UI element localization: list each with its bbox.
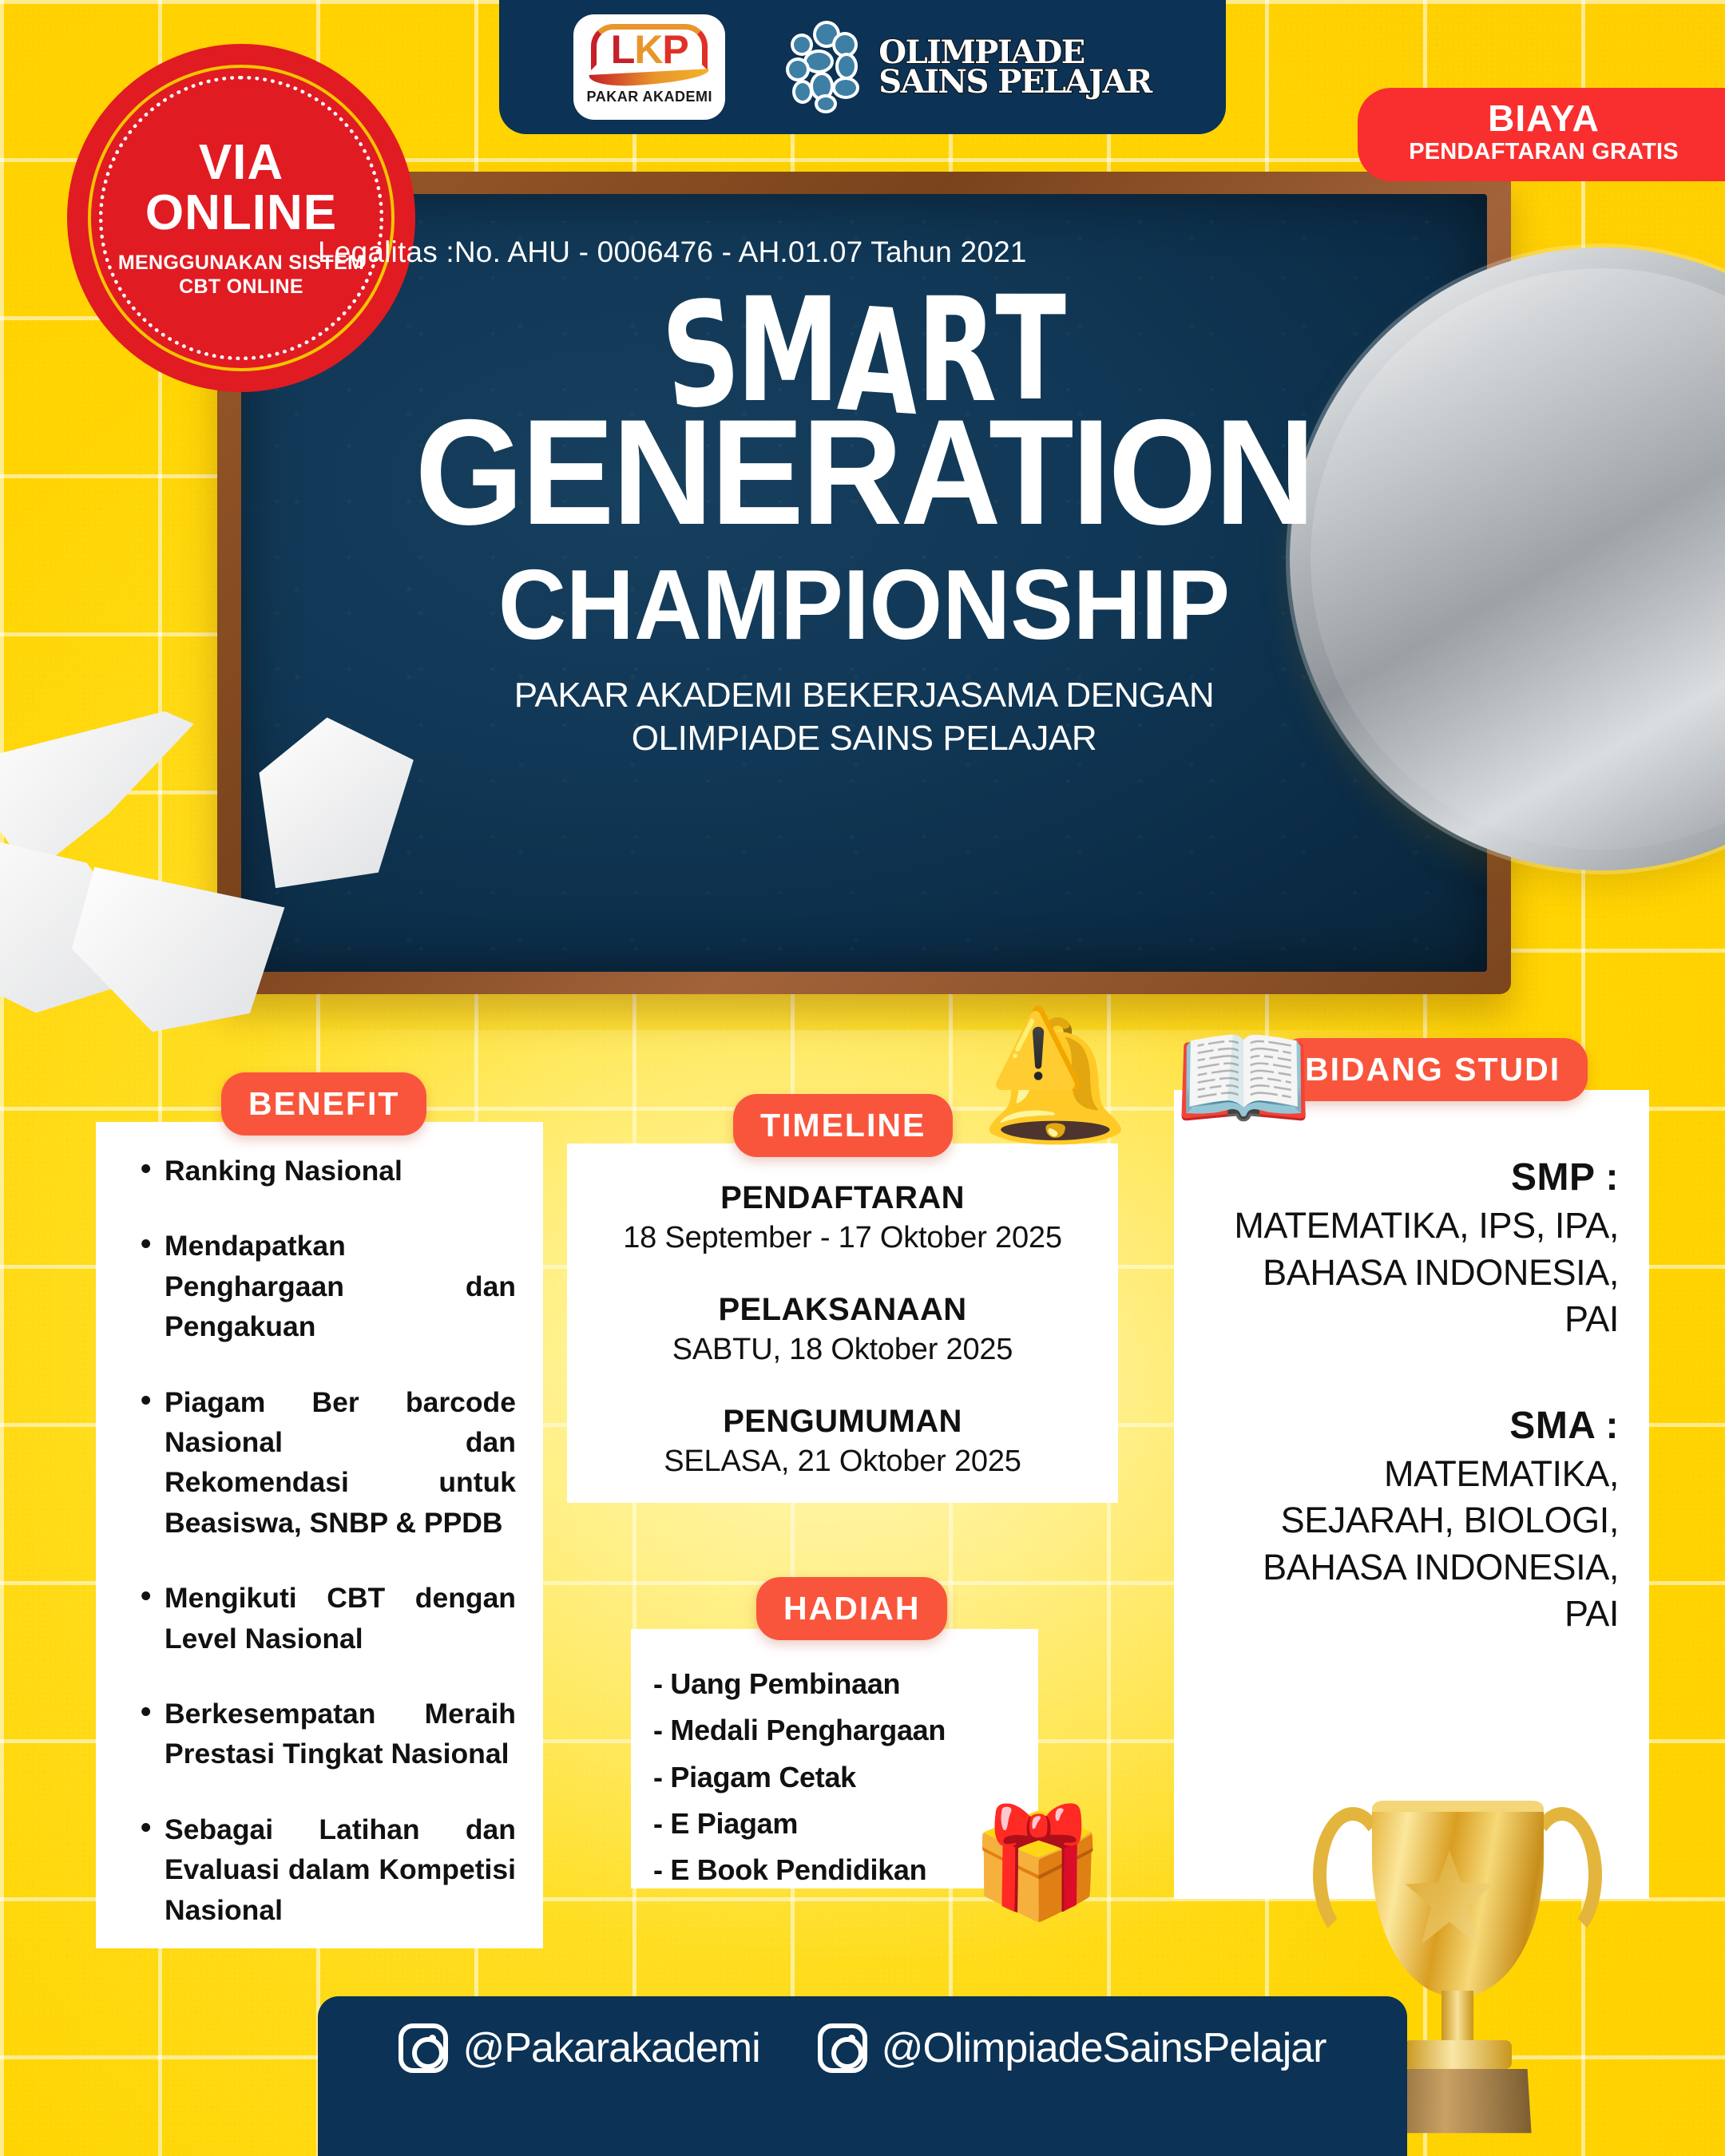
via-badge-line-2: ONLINE <box>109 188 373 238</box>
instagram-handle: @OlimpiadeSainsPelajar <box>882 2024 1326 2072</box>
list-item: Mendapatkan Penghargaan dan Pengakuan <box>141 1226 516 1346</box>
biaya-subtitle: PENDAFTARAN GRATIS <box>1394 139 1693 165</box>
bidang-subjects-smp: MATEMATIKA, IPS, IPA, BAHASA INDONESIA, … <box>1209 1203 1619 1343</box>
collaboration-text: PAKAR AKADEMI BEKERJASAMA DENGAN OLIMPIA… <box>297 674 1431 759</box>
trophy-cup <box>1372 1801 1544 1996</box>
biaya-title: BIAYA <box>1394 99 1693 137</box>
timeline-date: SABTU, 18 Oktober 2025 <box>567 1333 1118 1367</box>
blackboard-surface: Legalitas :No. AHU - 0006476 - AH.01.07 … <box>241 194 1487 972</box>
list-item: Mengikuti CBT dengan Level Nasional <box>141 1578 516 1659</box>
lkp-subtitle: PAKAR AKADEMI <box>587 89 713 105</box>
timeline-date: SELASA, 21 Oktober 2025 <box>567 1445 1118 1479</box>
title-championship: CHAMPIONSHIP <box>326 558 1403 653</box>
instagram-item-olimpiadesainspelajar[interactable]: @OlimpiadeSainsPelajar <box>818 2023 1326 2073</box>
osp-wordmark: OLIMPIADE SAINS PELAJAR <box>878 38 1151 97</box>
lkp-arc-shape <box>591 24 708 70</box>
benefit-list: Ranking Nasional Mendapatkan Penghargaan… <box>96 1122 543 1930</box>
timeline-card: PENDAFTARAN 18 September - 17 Oktober 20… <box>567 1143 1118 1503</box>
instagram-handle: @Pakarakademi <box>462 2024 759 2072</box>
list-item: Piagam Ber barcode Nasional dan Rekomend… <box>141 1382 516 1544</box>
title-generation: GENERATION <box>337 408 1392 537</box>
legalitas-text: Legalitas :No. AHU - 0006476 - AH.01.07 … <box>297 236 1431 269</box>
list-item: - Piagam Cetak <box>653 1754 1038 1801</box>
list-item: Ranking Nasional <box>141 1151 516 1191</box>
list-item: - Medali Penghargaan <box>653 1707 1038 1754</box>
list-item: - Uang Pembinaan <box>653 1661 1038 1707</box>
lkp-swoosh-icon <box>589 69 710 88</box>
top-logo-bar: L K P PAKAR AKADEMI OLIMPIADE <box>499 0 1226 134</box>
globe-book-graduation-icon: 📖 <box>1174 1022 1313 1134</box>
bidang-studi-chip: BIDANG STUDI <box>1278 1038 1588 1101</box>
timeline-heading: PENDAFTARAN <box>567 1180 1118 1216</box>
footer-bar: @Pakarakademi @OlimpiadeSainsPelajar <box>318 1996 1407 2156</box>
hadiah-chip: HADIAH <box>756 1577 947 1640</box>
trophy-foot <box>1404 2040 1512 2069</box>
list-item: Berkesempatan Meraih Prestasi Tingkat Na… <box>141 1694 516 1774</box>
instagram-icon <box>399 2023 448 2073</box>
instagram-item-pakarakademi[interactable]: @Pakarakademi <box>399 2023 759 2073</box>
olimpiade-sains-pelajar-logo: OLIMPIADE SAINS PELAJAR <box>789 24 1151 110</box>
gift-box-icon: 🎁 <box>970 1809 1104 1916</box>
via-badge-line-3: MENGGUNAKAN SISTEM <box>109 251 373 275</box>
bidang-subjects-sma: MATEMATIKA, SEJARAH, BIOLOGI, BAHASA IND… <box>1209 1451 1619 1638</box>
molecule-icon <box>789 24 866 110</box>
blackboard-wooden-frame: Legalitas :No. AHU - 0006476 - AH.01.07 … <box>217 172 1511 994</box>
collab-line-2: OLIMPIADE SAINS PELAJAR <box>297 717 1431 760</box>
timeline-heading: PENGUMUMAN <box>567 1404 1118 1440</box>
timeline-heading: PELAKSANAAN <box>567 1292 1118 1328</box>
via-badge-line-1: VIA <box>109 137 373 188</box>
bidang-level-sma: SMA : <box>1209 1404 1619 1448</box>
trophy-base <box>1387 2069 1531 2133</box>
warning-triangle-icon: ⚠️ <box>990 1010 1086 1087</box>
poster-root: L K P PAKAR AKADEMI OLIMPIADE <box>0 0 1725 2156</box>
lkp-pakar-akademi-logo: L K P PAKAR AKADEMI <box>573 14 725 120</box>
benefit-chip: BENEFIT <box>221 1072 426 1135</box>
biaya-badge: BIAYA PENDAFTARAN GRATIS <box>1358 88 1725 181</box>
bidang-level-smp: SMP : <box>1209 1155 1619 1199</box>
benefit-card: Ranking Nasional Mendapatkan Penghargaan… <box>96 1122 543 1948</box>
collab-line-1: PAKAR AKADEMI BEKERJASAMA DENGAN <box>297 674 1431 717</box>
instagram-icon <box>818 2023 867 2073</box>
osp-line-2: SAINS PELAJAR <box>878 67 1151 97</box>
list-item: Sebagai Latihan dan Evaluasi dalam Kompe… <box>141 1809 516 1930</box>
via-badge-line-4: CBT ONLINE <box>109 275 373 299</box>
timeline-chip: TIMELINE <box>733 1094 953 1157</box>
timeline-date: 18 September - 17 Oktober 2025 <box>567 1221 1118 1255</box>
